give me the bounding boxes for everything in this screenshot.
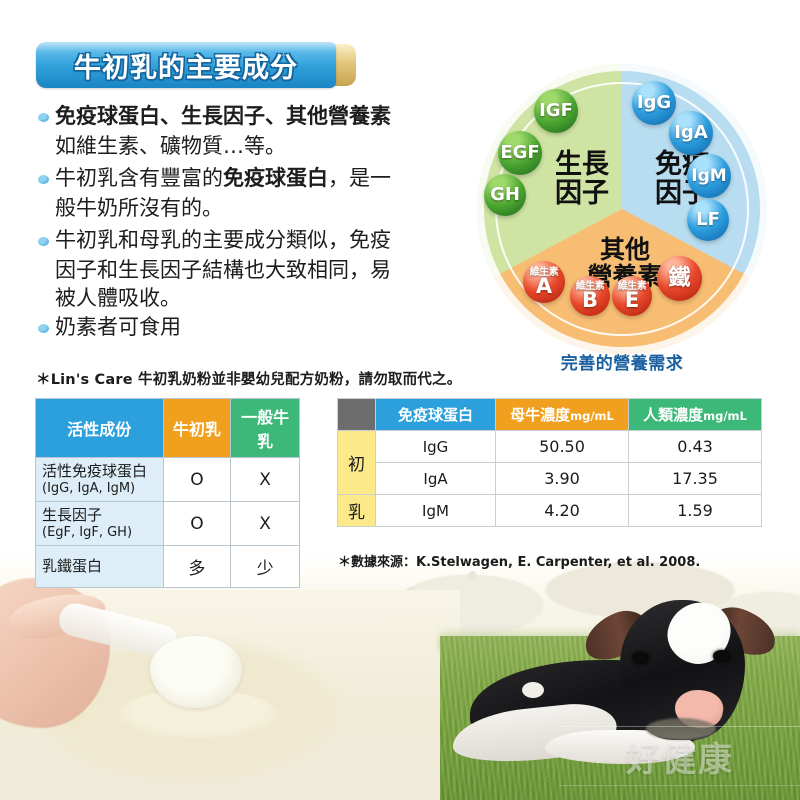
nutrient-pie-diagram: 生長 因子 免疫 因子 其他 營養素 IGF EGF GH IgG IgA Ig…	[477, 64, 777, 364]
cell-cow-value: 4.20	[496, 495, 629, 527]
component-name-cn: 活性免疫球蛋白	[42, 463, 157, 481]
bubble-vitamin-a-letter: A	[530, 276, 559, 297]
calf-photo	[470, 590, 790, 770]
cell-human-value: 17.35	[629, 463, 762, 495]
bubble-iron: 鐵	[657, 256, 702, 301]
col-header-milk: 一般牛乳	[231, 399, 300, 458]
bubble-egf: EGF	[498, 131, 542, 175]
col-header-component: 活性成份	[36, 399, 164, 458]
table-row: 乳 IgM 4.20 1.59	[338, 495, 762, 527]
col-header-cow-conc-label: 母牛濃度	[510, 406, 570, 424]
cell-group-label-char1: 初	[338, 431, 376, 495]
bullet-subtext: 被人體吸收。	[55, 285, 458, 313]
bullet-text: 奶素者可食用	[55, 314, 181, 342]
cell-component-name: 乳鐵蛋白	[36, 546, 164, 588]
col-header-cow-conc-unit: mg/mL	[570, 409, 614, 423]
bubble-vitamin-b-letter: B	[576, 290, 605, 311]
cell-group-label-char2: 乳	[338, 495, 376, 527]
component-name-en: (EgF, IgF, GH)	[42, 525, 157, 540]
cell-colostrum-value: O	[163, 458, 231, 502]
cell-colostrum-value: O	[163, 502, 231, 546]
calf-chin	[646, 718, 716, 740]
col-header-colostrum: 牛初乳	[163, 399, 231, 458]
cell-milk-value: 少	[231, 546, 300, 588]
table-row: IgA 3.90 17.35	[338, 463, 762, 495]
bubble-vitamin-b-text: 維生素 B	[576, 282, 605, 311]
table-header-row: 免疫球蛋白 母牛濃度mg/mL 人類濃度mg/mL	[338, 399, 762, 431]
cell-protein: IgA	[376, 463, 496, 495]
pie-caption: 完善的營養需求	[477, 349, 767, 374]
cell-component-name: 生長因子 (EgF, IgF, GH)	[36, 502, 164, 546]
immunoglobulin-table: 免疫球蛋白 母牛濃度mg/mL 人類濃度mg/mL 初 IgG 50.50 0.…	[337, 398, 762, 527]
bullet-dot-icon	[38, 237, 49, 246]
component-name-cn: 乳鐵蛋白	[42, 558, 157, 576]
bubble-vitamin-e-letter: E	[618, 290, 647, 311]
bullet-dot-icon	[38, 175, 49, 184]
pie-label-growth-line2: 因子	[527, 179, 637, 208]
table-row: 活性免疫球蛋白 (IgG, IgA, IgM) O X	[36, 458, 300, 502]
bubble-igm: IgM	[687, 154, 731, 198]
bubble-vitamin-e-text: 維生素 E	[618, 282, 647, 311]
milk-drop-icon	[468, 571, 477, 581]
bubble-vitamin-e: 維生素 E	[612, 276, 652, 316]
bubble-gh: GH	[484, 174, 526, 216]
bullet-text: 牛初乳和母乳的主要成分類似，免疫	[55, 227, 391, 255]
bubble-vitamin-a-text: 維生素 A	[530, 268, 559, 297]
cell-protein: IgG	[376, 431, 496, 463]
calf-eye-left	[632, 652, 649, 664]
cell-colostrum-value: 多	[163, 546, 231, 588]
list-item: 免疫球蛋白、生長因子、其他營養素	[38, 103, 458, 131]
bubble-igf: IGF	[534, 89, 578, 133]
bullet-lead: 牛初乳含有豐富的	[55, 166, 223, 190]
cell-cow-value: 3.90	[496, 463, 629, 495]
cell-milk-value: X	[231, 502, 300, 546]
col-header-cow-conc: 母牛濃度mg/mL	[496, 399, 629, 431]
col-header-human-conc-unit: mg/mL	[703, 409, 747, 423]
table-row: 乳鐵蛋白 多 少	[36, 546, 300, 588]
cell-human-value: 1.59	[629, 495, 762, 527]
calf-spot	[522, 682, 544, 698]
list-item: 牛初乳含有豐富的免疫球蛋白，是一	[38, 165, 458, 193]
bullet-subtext: 因子和生長因子結構也大致相同，易	[55, 257, 458, 285]
bubble-lf: LF	[687, 199, 729, 241]
table-row: 生長因子 (EgF, IgF, GH) O X	[36, 502, 300, 546]
component-name-en: (IgG, IgA, IgM)	[42, 481, 157, 496]
bullet-list: 免疫球蛋白、生長因子、其他營養素 如維生素、礦物質…等。 牛初乳含有豐富的免疫球…	[38, 103, 458, 344]
banner-body: 牛初乳的主要成分	[36, 42, 336, 88]
col-header-protein: 免疫球蛋白	[376, 399, 496, 431]
bullet-tail: ，是一	[328, 166, 391, 190]
col-header-human-conc-label: 人類濃度	[643, 406, 703, 424]
cell-human-value: 0.43	[629, 431, 762, 463]
cell-component-name: 活性免疫球蛋白 (IgG, IgA, IgM)	[36, 458, 164, 502]
title-banner: 牛初乳的主要成分	[36, 42, 356, 88]
infographic-page: 牛初乳的主要成分 免疫球蛋白、生長因子、其他營養素 如維生素、礦物質…等。 牛初…	[0, 0, 800, 800]
list-item: 奶素者可食用	[38, 314, 458, 342]
col-header-human-conc: 人類濃度mg/mL	[629, 399, 762, 431]
table-header-row: 活性成份 牛初乳 一般牛乳	[36, 399, 300, 458]
bullet-text: 免疫球蛋白、生長因子、其他營養素	[55, 103, 391, 131]
pie-label-growth-line1: 生長	[527, 150, 637, 179]
page-title: 牛初乳的主要成分	[74, 46, 298, 85]
bullet-text: 牛初乳含有豐富的免疫球蛋白，是一	[55, 165, 391, 193]
bullet-dot-icon	[38, 324, 49, 333]
comparison-table: 活性成份 牛初乳 一般牛乳 活性免疫球蛋白 (IgG, IgA, IgM) O …	[35, 398, 300, 588]
bullet-subtext: 般牛奶所沒有的。	[55, 195, 458, 223]
col-header-group	[338, 399, 376, 431]
bubble-iga: IgA	[669, 111, 713, 155]
bubble-vitamin-a: 維生素 A	[523, 261, 565, 303]
table-row: 初 IgG 50.50 0.43	[338, 431, 762, 463]
cell-cow-value: 50.50	[496, 431, 629, 463]
source-note: ＊數據來源：K.Stelwagen, E. Carpenter, et al. …	[338, 551, 758, 570]
bullet-subtext: 如維生素、礦物質…等。	[55, 133, 458, 161]
component-name-cn: 生長因子	[42, 507, 157, 525]
pie-label-growth-factor: 生長 因子	[527, 150, 637, 208]
calf-eye-right	[713, 650, 730, 662]
disclaimer-footnote: ＊Lin's Care 牛初乳奶粉並非嬰幼兒配方奶粉，請勿取而代之。	[36, 368, 476, 389]
bullet-strong: 免疫球蛋白	[223, 166, 328, 190]
bubble-igg: IgG	[632, 81, 676, 125]
list-item: 牛初乳和母乳的主要成分類似，免疫	[38, 227, 458, 255]
cell-milk-value: X	[231, 458, 300, 502]
bubble-vitamin-b: 維生素 B	[570, 276, 610, 316]
cell-protein: IgM	[376, 495, 496, 527]
bullet-dot-icon	[38, 113, 49, 122]
